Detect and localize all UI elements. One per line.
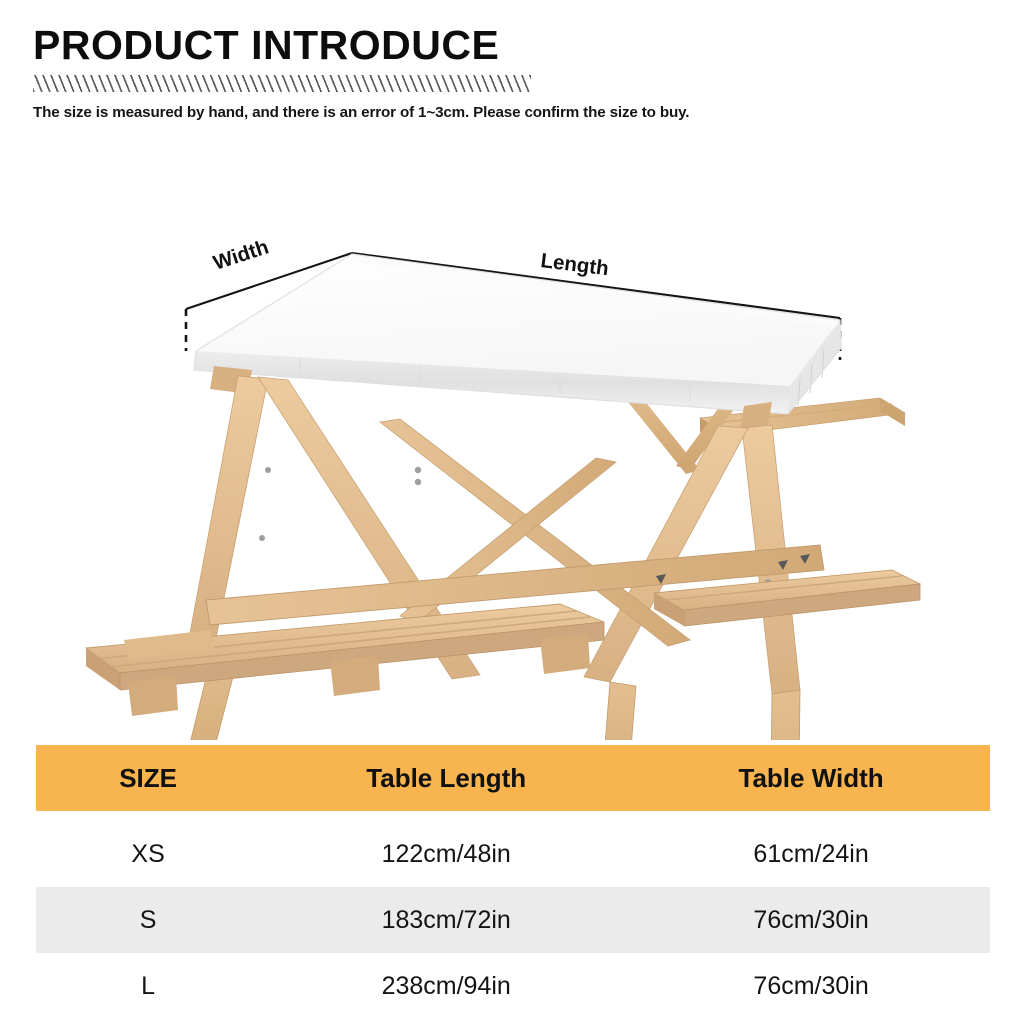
cell-table-length: 238cm/94in xyxy=(260,974,632,999)
cell-table-length: 122cm/48in xyxy=(260,842,632,867)
table-row: S 183cm/72in 76cm/30in xyxy=(36,887,990,953)
cell-table-width: 61cm/24in xyxy=(632,842,990,867)
cell-size: XS xyxy=(36,842,260,867)
length-dimension-label: Length xyxy=(539,249,610,280)
leg-assembly-left xyxy=(172,376,480,740)
cell-size: L xyxy=(36,974,260,999)
size-table: SIZE Table Length Table Width XS 122cm/4… xyxy=(36,745,990,1019)
bench-seat-near xyxy=(86,604,604,716)
header: PRODUCT INTRODUCE The size is measured b… xyxy=(33,24,993,121)
row-spacer xyxy=(36,811,990,821)
width-dimension-label: Width xyxy=(210,235,271,274)
hatched-slash-divider-icon xyxy=(33,75,531,92)
table-row: XS 122cm/48in 61cm/24in xyxy=(36,821,990,887)
column-header-size: SIZE xyxy=(36,765,260,791)
cell-size: S xyxy=(36,908,260,933)
cell-table-length: 183cm/72in xyxy=(260,908,632,933)
product-illustration: Width Length xyxy=(0,170,1024,740)
column-header-table-length: Table Length xyxy=(260,765,632,791)
column-header-table-width: Table Width xyxy=(632,765,990,791)
size-table-header-row: SIZE Table Length Table Width xyxy=(36,745,990,811)
page-title: PRODUCT INTRODUCE xyxy=(33,24,993,67)
table-row: L 238cm/94in 76cm/30in xyxy=(36,953,990,1019)
cell-table-width: 76cm/30in xyxy=(632,974,990,999)
cell-table-width: 76cm/30in xyxy=(632,908,990,933)
size-disclaimer-text: The size is measured by hand, and there … xyxy=(33,104,993,121)
